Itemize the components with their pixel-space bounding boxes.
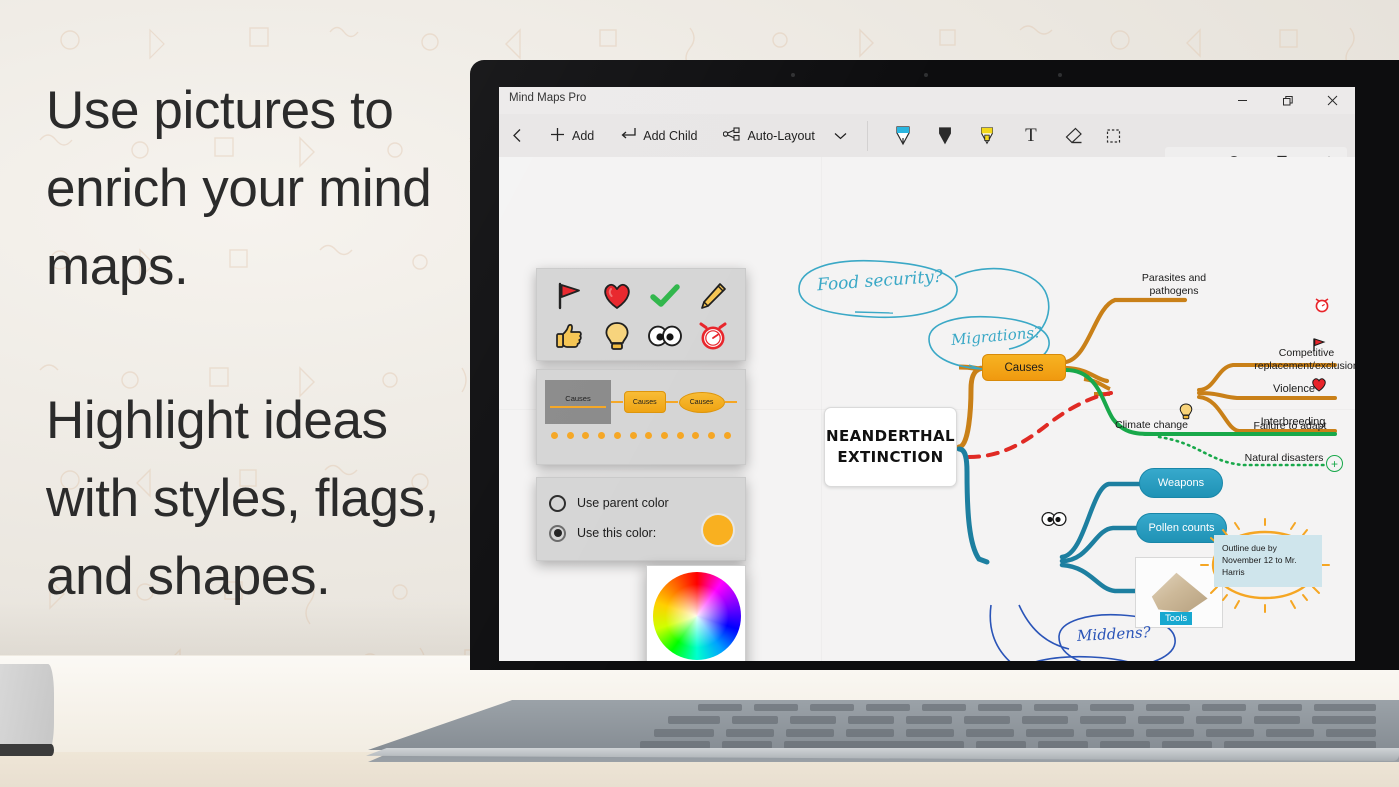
text-tool-label: T	[1025, 125, 1037, 147]
heart-icon	[1311, 377, 1327, 393]
alarm-clock-icon	[1314, 297, 1330, 313]
shape-sample-underline-label: Causes	[565, 394, 590, 403]
flag-icon	[1311, 337, 1327, 353]
thumbs-up-icon[interactable]	[547, 317, 591, 355]
parasites-node[interactable]: Parasites and pathogens	[1119, 272, 1229, 298]
expand-button[interactable]: +	[1326, 455, 1343, 472]
node-shape-panel[interactable]: Causes Causes Causes	[536, 369, 746, 465]
headline-primary: Use pictures to enrich your mind maps.	[46, 72, 456, 306]
thickness-dot[interactable]	[677, 432, 684, 439]
color-wheel[interactable]	[653, 572, 741, 660]
thickness-dot[interactable]	[567, 432, 574, 439]
natural-disasters-node[interactable]: Natural disasters	[1229, 452, 1339, 465]
headline-secondary: Highlight ideas with styles, flags, and …	[46, 382, 476, 616]
alarm-clock-icon[interactable]	[691, 317, 735, 355]
weapons-node[interactable]: Weapons	[1139, 468, 1223, 498]
add-child-button[interactable]: Add Child	[611, 114, 706, 157]
thickness-dot[interactable]	[692, 432, 699, 439]
tools-caption: Tools	[1160, 612, 1192, 625]
shape-sample-underline[interactable]: Causes	[545, 380, 611, 424]
window-titlebar: Mind Maps Pro	[499, 87, 1355, 114]
lid-sensor-dot	[791, 73, 795, 77]
thickness-dot[interactable]	[708, 432, 715, 439]
thickness-dot[interactable]	[724, 432, 731, 439]
add-button-label: Add	[572, 129, 594, 143]
icon-grid	[547, 277, 735, 355]
radio-unselected[interactable]	[549, 495, 566, 512]
climate-change-node[interactable]: Climate change	[1099, 419, 1204, 432]
use-parent-color-label: Use parent color	[577, 496, 669, 510]
checkmark-icon[interactable]	[643, 277, 687, 315]
app-toolbar: Add Add Child Auto-Layout	[499, 114, 1355, 157]
use-parent-color-option[interactable]: Use parent color	[549, 488, 733, 518]
lid-camera-dot	[924, 73, 928, 77]
add-child-button-label: Add Child	[643, 129, 697, 143]
desk-speaker-base	[0, 744, 54, 756]
failure-to-adapt-node[interactable]: Failure to adapt	[1235, 420, 1345, 433]
shape-samples-row: Causes Causes Causes	[545, 378, 737, 426]
auto-layout-label: Auto-Layout	[747, 129, 814, 143]
pen-black-tool[interactable]	[928, 114, 962, 157]
shape-sample-oval[interactable]: Causes	[679, 392, 725, 413]
toolbar-divider	[867, 121, 868, 151]
shape-connector-stub-2	[666, 401, 678, 403]
app-title: Mind Maps Pro	[509, 92, 586, 104]
radio-selected[interactable]	[549, 525, 566, 542]
color-picker-popup[interactable]	[646, 565, 746, 661]
plus-icon	[550, 127, 565, 145]
lid-sensor-dot-2	[1058, 73, 1062, 77]
mindmap-canvas[interactable]: NEANDERTHAL EXTINCTION Causes Parasites …	[499, 157, 1355, 661]
shape-connector-stub	[611, 401, 623, 403]
shape-sample-rect-label: Causes	[633, 399, 657, 406]
keyboard-keys	[368, 700, 1399, 752]
desk-speaker	[0, 664, 54, 752]
thickness-dot[interactable]	[614, 432, 621, 439]
thickness-dots-row[interactable]	[545, 426, 737, 439]
pen-blue-tool[interactable]	[886, 114, 920, 157]
causes-node-label: Causes	[1005, 362, 1044, 374]
minimize-button[interactable]	[1220, 87, 1265, 114]
root-node-label: NEANDERTHAL EXTINCTION	[826, 426, 955, 468]
auto-layout-button[interactable]: Auto-Layout	[714, 114, 823, 157]
causes-node[interactable]: Causes	[982, 354, 1066, 381]
heart-icon[interactable]	[595, 277, 639, 315]
auto-layout-dropdown[interactable]	[824, 114, 857, 157]
maximize-restore-button[interactable]	[1265, 87, 1310, 114]
competitive-replacement-node[interactable]: Competitive replacement/exclusion	[1249, 347, 1355, 373]
thickness-dot[interactable]	[645, 432, 652, 439]
current-color-swatch[interactable]	[703, 515, 733, 545]
hierarchy-icon	[723, 127, 740, 144]
thickness-dot[interactable]	[661, 432, 668, 439]
eyes-icon[interactable]	[643, 317, 687, 355]
icon-picker-panel[interactable]	[536, 268, 746, 361]
shape-underline-stroke	[550, 406, 606, 408]
shape-connector-stub-3	[725, 401, 737, 403]
use-this-color-label: Use this color:	[577, 526, 656, 540]
back-button[interactable]	[499, 114, 533, 157]
laptop-screen: Mind Maps Pro Add Add Child	[499, 87, 1355, 661]
text-tool[interactable]: T	[1014, 114, 1048, 157]
weapons-node-label: Weapons	[1158, 477, 1204, 489]
color-mode-panel[interactable]: Use parent color Use this color:	[536, 477, 746, 561]
enter-arrow-icon	[620, 127, 636, 144]
root-node[interactable]: NEANDERTHAL EXTINCTION	[824, 407, 957, 487]
pencil-icon[interactable]	[691, 277, 735, 315]
highlighter-tool[interactable]	[970, 114, 1004, 157]
middens-note[interactable]: Middens?	[1077, 623, 1151, 645]
eyes-icon	[1041, 512, 1067, 526]
lightbulb-icon	[1179, 403, 1195, 419]
thickness-dot[interactable]	[598, 432, 605, 439]
lasso-select-tool[interactable]	[1098, 114, 1132, 157]
thickness-dot[interactable]	[630, 432, 637, 439]
flag-icon[interactable]	[547, 277, 591, 315]
sticky-note[interactable]: Outline due by November 12 to Mr. Harris	[1214, 535, 1322, 587]
close-button[interactable]	[1310, 87, 1355, 114]
thickness-dot[interactable]	[582, 432, 589, 439]
thickness-dot[interactable]	[551, 432, 558, 439]
shape-sample-oval-label: Causes	[690, 399, 714, 406]
shape-sample-rounded-rect[interactable]: Causes	[624, 391, 666, 413]
add-button[interactable]: Add	[541, 114, 603, 157]
eraser-tool[interactable]	[1056, 114, 1090, 157]
lightbulb-icon[interactable]	[595, 317, 639, 355]
